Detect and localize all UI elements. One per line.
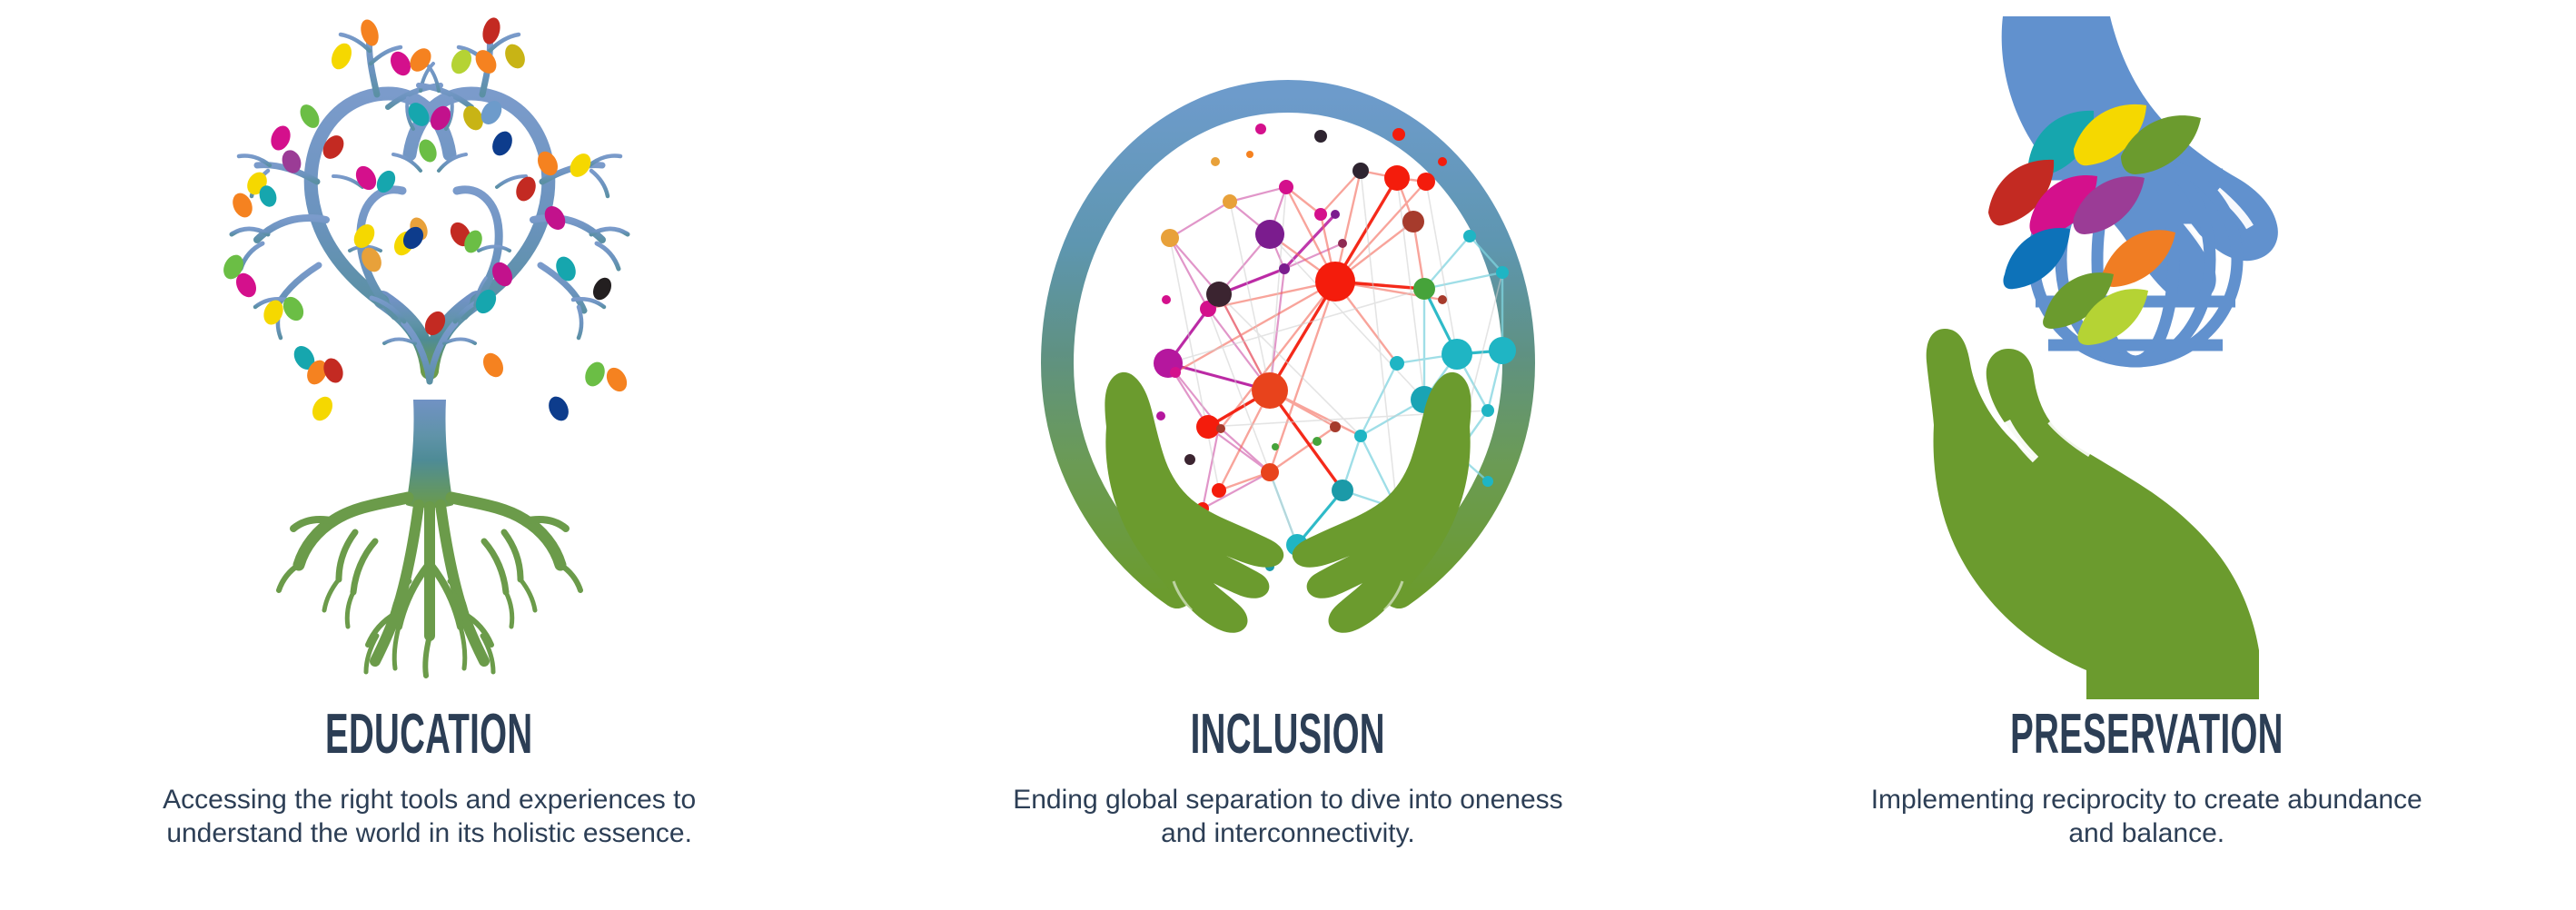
preservation-illustration — [1718, 0, 2576, 699]
education-illustration — [0, 0, 858, 699]
education-description: Accessing the right tools and experience… — [148, 783, 711, 850]
education-heading: EDUCATION — [325, 707, 532, 763]
preservation-heading: PRESERVATION — [2010, 707, 2284, 763]
values-three-column-board: EDUCATION Accessing the right tools and … — [0, 0, 2576, 910]
right-hand — [1293, 372, 1471, 633]
column-inclusion: INCLUSION Ending global separation to di… — [858, 0, 1717, 910]
left-hand — [1105, 372, 1283, 633]
preservation-description: Implementing reciprocity to create abund… — [1856, 783, 2437, 850]
two-hands-cradling-leafy-globe-icon — [1892, 0, 2401, 699]
heart-shaped-tree-with-roots-icon — [148, 0, 711, 699]
lower-green-hand — [1927, 329, 2259, 699]
inclusion-heading: INCLUSION — [1191, 707, 1385, 763]
inclusion-description: Ending global separation to dive into on… — [1006, 783, 1570, 850]
inclusion-illustration — [858, 0, 1717, 699]
column-education: EDUCATION Accessing the right tools and … — [0, 0, 858, 910]
tree-trunk-and-roots — [279, 400, 580, 676]
hands-holding-network-globe-icon — [997, 0, 1579, 699]
column-preservation: PRESERVATION Implementing reciprocity to… — [1718, 0, 2576, 910]
